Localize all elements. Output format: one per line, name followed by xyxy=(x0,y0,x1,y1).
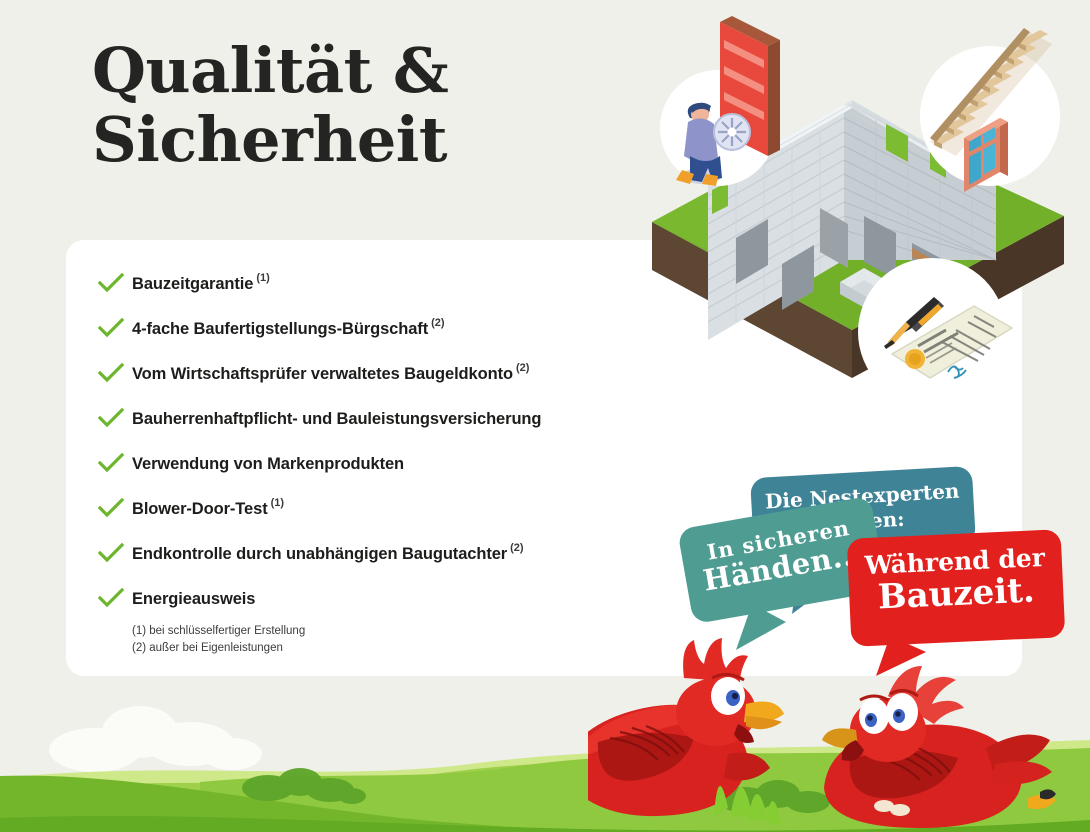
infographic-poster: Qualität & Sicherheit xyxy=(0,0,1090,832)
red-birds-illustration xyxy=(588,620,1090,832)
checklist-label: Vom Wirtschaftsprüfer verwaltetes Baugel… xyxy=(132,362,513,384)
footnote-2: (2) außer bei Eigenleistungen xyxy=(132,640,305,657)
cloud-icon xyxy=(49,706,262,772)
bubble-line-2: Bauzeit. xyxy=(849,571,1064,618)
check-icon xyxy=(98,452,132,473)
check-icon xyxy=(98,362,132,383)
check-icon xyxy=(98,587,132,608)
checklist-label: Bauzeitgarantie xyxy=(132,272,253,294)
checklist-note: (2) xyxy=(507,542,523,554)
checklist-note: (1) xyxy=(268,497,284,509)
check-icon xyxy=(98,497,132,518)
checklist-note: (2) xyxy=(513,362,529,374)
checklist-item: Blower-Door-Test (1) xyxy=(98,497,718,542)
house-illustration xyxy=(612,10,1090,430)
bird-left xyxy=(588,638,784,816)
checklist-label: Energieausweis xyxy=(132,587,255,609)
bird-right xyxy=(822,666,1056,828)
check-icon xyxy=(98,407,132,428)
check-icon xyxy=(98,542,132,563)
checklist-label: Blower-Door-Test xyxy=(132,497,268,519)
page-title: Qualität & Sicherheit xyxy=(92,36,448,175)
checklist-label: Verwendung von Markenprodukten xyxy=(132,452,404,474)
speech-bubble-bauzeit: Während der Bauzeit. xyxy=(847,529,1066,647)
checklist-note: (2) xyxy=(428,317,444,329)
checklist-label: Endkontrolle durch unabhängigen Baugutac… xyxy=(132,542,507,564)
checklist-note: (1) xyxy=(253,272,269,284)
check-icon xyxy=(98,272,132,293)
worker-insulation-badge xyxy=(660,16,780,186)
checklist-item: Endkontrolle durch unabhängigen Baugutac… xyxy=(98,542,718,587)
checklist-label: 4-fache Baufertigstellungs-Bürgschaft xyxy=(132,317,428,339)
checklist-item: Verwendung von Markenprodukten xyxy=(98,452,718,497)
bird-talon xyxy=(1028,789,1056,809)
check-icon xyxy=(98,317,132,338)
footnotes: (1) bei schlüsselfertiger Erstellung (2)… xyxy=(132,623,305,656)
checklist-label: Bauherrenhaftpflicht- und Bauleistungsve… xyxy=(132,407,541,429)
footnote-1: (1) bei schlüsselfertiger Erstellung xyxy=(132,623,305,640)
